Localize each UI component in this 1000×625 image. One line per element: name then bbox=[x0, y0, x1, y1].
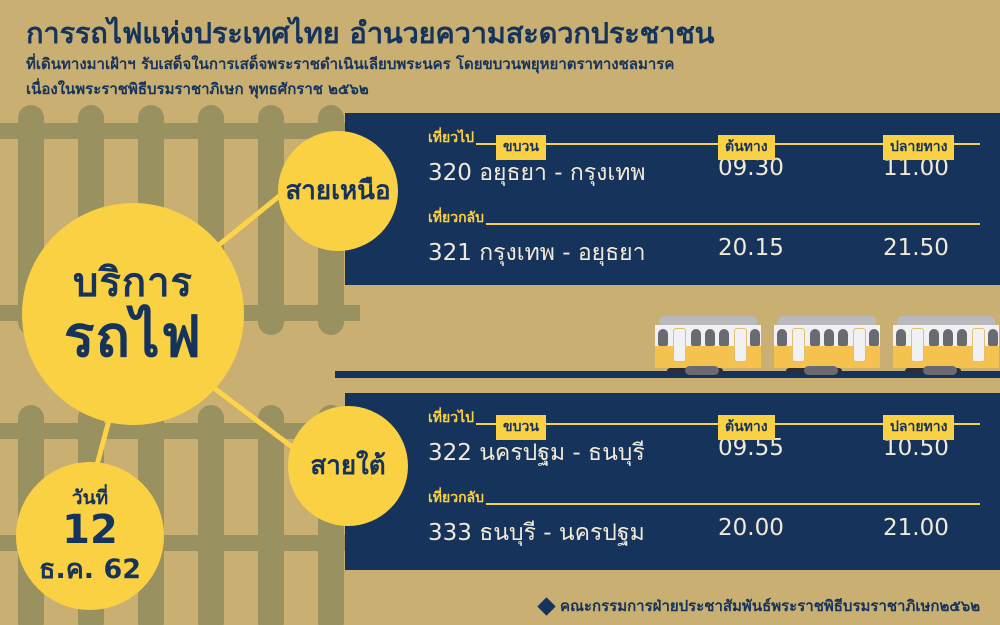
carriage-door bbox=[911, 328, 924, 362]
table-row: 322 นครปฐม - ธนบุรี 09.55 10.50 bbox=[428, 435, 992, 469]
carriage-door bbox=[673, 328, 686, 362]
header: การรถไฟแห่งประเทศไทย อำนวยความสะดวกประชา… bbox=[26, 16, 966, 100]
leg-outbound: เที่ยวไป ขบวน ต้นทาง ปลายทาง 320 อยุธยา … bbox=[428, 127, 992, 189]
leg-rule bbox=[430, 503, 980, 505]
table-row: 333 ธนบุรี - นครปฐม 20.00 21.00 bbox=[428, 515, 992, 549]
footer-credit-text: คณะกรรมการฝ่ายประชาสัมพันธ์พระราชพิธีบรม… bbox=[560, 594, 980, 618]
column-header-train: ขบวน bbox=[496, 135, 546, 160]
column-header-to: ปลายทาง bbox=[883, 135, 954, 160]
cell-from: 20.00 bbox=[718, 515, 784, 541]
timetable-northern: เที่ยวไป ขบวน ต้นทาง ปลายทาง 320 อยุธยา … bbox=[428, 127, 992, 269]
carriage-window bbox=[691, 329, 701, 346]
panel-northern-line: เที่ยวไป ขบวน ต้นทาง ปลายทาง 320 อยุธยา … bbox=[345, 113, 1000, 285]
cell-to: 21.00 bbox=[883, 515, 949, 541]
carriage-door bbox=[792, 328, 805, 362]
carriage-door bbox=[734, 328, 747, 362]
carriage-wheelset bbox=[804, 366, 838, 375]
leg-header: เที่ยวไป ขบวน ต้นทาง ปลายทาง bbox=[428, 407, 992, 433]
panel-southern-line: เที่ยวไป ขบวน ต้นทาง ปลายทาง 322 นครปฐม … bbox=[345, 393, 1000, 570]
branch-label: สายใต้ bbox=[310, 453, 385, 479]
carriage-window bbox=[705, 329, 715, 346]
leg-header: เที่ยวไป ขบวน ต้นทาง ปลายทาง bbox=[428, 127, 992, 153]
leg-direction-label: เที่ยวกลับ bbox=[428, 487, 486, 509]
carriage-window bbox=[838, 329, 848, 346]
page-title: การรถไฟแห่งประเทศไทย อำนวยความสะดวกประชา… bbox=[26, 16, 966, 51]
carriage-window bbox=[957, 329, 967, 346]
leg-direction-label: เที่ยวไป bbox=[428, 407, 476, 429]
carriage-window bbox=[988, 329, 998, 346]
carriage-window bbox=[658, 329, 668, 346]
carriage-window bbox=[869, 329, 879, 346]
carriage-window bbox=[719, 329, 729, 346]
carriage-window bbox=[810, 329, 820, 346]
cell-to: 21.50 bbox=[883, 235, 949, 261]
diamond-icon bbox=[537, 597, 555, 615]
infographic-canvas: การรถไฟแห่งประเทศไทย อำนวยความสะดวกประชา… bbox=[0, 0, 1000, 625]
leg-rule bbox=[430, 223, 980, 225]
cell-from: 20.15 bbox=[718, 235, 784, 261]
main-topic-circle: บริการ รถไฟ bbox=[22, 203, 244, 425]
carriage-window bbox=[929, 329, 939, 346]
branch-circle-northern: สายเหนือ bbox=[278, 131, 398, 251]
carriage-window bbox=[824, 329, 834, 346]
cell-train: 322 นครปฐม - ธนบุรี bbox=[428, 435, 645, 471]
carriage-door bbox=[853, 328, 866, 362]
table-row: 320 อยุธยา - กรุงเทพ 09.30 11.00 bbox=[428, 155, 992, 189]
date-month-year: ธ.ค. 62 bbox=[39, 556, 141, 583]
cell-train: 333 ธนบุรี - นครปฐม bbox=[428, 515, 645, 551]
carriage-window bbox=[943, 329, 953, 346]
column-header-from: ต้นทาง bbox=[718, 415, 775, 440]
branch-label: สายเหนือ bbox=[285, 178, 390, 204]
footer-credit: คณะกรรมการฝ่ายประชาสัมพันธ์พระราชพิธีบรม… bbox=[540, 594, 980, 618]
main-topic-line-2: รถไฟ bbox=[64, 309, 202, 366]
carriage-window bbox=[750, 329, 760, 346]
date-circle: วันที่ 12 ธ.ค. 62 bbox=[16, 462, 164, 610]
train-carriage bbox=[774, 316, 880, 368]
train-carriage bbox=[893, 316, 999, 368]
leg-header: เที่ยวกลับ bbox=[428, 487, 992, 513]
carriage-window bbox=[777, 329, 787, 346]
branch-circle-southern: สายใต้ bbox=[288, 406, 408, 526]
timetable-southern: เที่ยวไป ขบวน ต้นทาง ปลายทาง 322 นครปฐม … bbox=[428, 407, 992, 549]
column-header-to: ปลายทาง bbox=[883, 415, 954, 440]
leg-return: เที่ยวกลับ 321 กรุงเทพ - อยุธยา 20.15 21… bbox=[428, 207, 992, 269]
page-subtitle-line-2: เนื่องในพระราชพิธีบรมราชาภิเษก พุทธศักรา… bbox=[26, 79, 966, 100]
cell-train: 320 อยุธยา - กรุงเทพ bbox=[428, 155, 646, 191]
train-carriage bbox=[655, 316, 761, 368]
page-subtitle-line-1: ที่เดินทางมาเฝ้าฯ รับเสด็จในการเสด็จพระร… bbox=[26, 54, 966, 75]
leg-header: เที่ยวกลับ bbox=[428, 207, 992, 233]
carriage-door bbox=[972, 328, 985, 362]
main-topic-line-1: บริการ bbox=[73, 263, 193, 303]
leg-direction-label: เที่ยวกลับ bbox=[428, 207, 486, 229]
column-header-train: ขบวน bbox=[496, 415, 546, 440]
date-label: วันที่ bbox=[72, 489, 108, 508]
train-illustration bbox=[655, 310, 1000, 378]
carriage-wheelset bbox=[923, 366, 957, 375]
cell-train: 321 กรุงเทพ - อยุธยา bbox=[428, 235, 646, 271]
table-row: 321 กรุงเทพ - อยุธยา 20.15 21.50 bbox=[428, 235, 992, 269]
leg-direction-label: เที่ยวไป bbox=[428, 127, 476, 149]
leg-return: เที่ยวกลับ 333 ธนบุรี - นครปฐม 20.00 21.… bbox=[428, 487, 992, 549]
leg-outbound: เที่ยวไป ขบวน ต้นทาง ปลายทาง 322 นครปฐม … bbox=[428, 407, 992, 469]
date-day: 12 bbox=[62, 510, 118, 550]
carriage-wheelset bbox=[685, 366, 719, 375]
carriage-window bbox=[896, 329, 906, 346]
column-header-from: ต้นทาง bbox=[718, 135, 775, 160]
